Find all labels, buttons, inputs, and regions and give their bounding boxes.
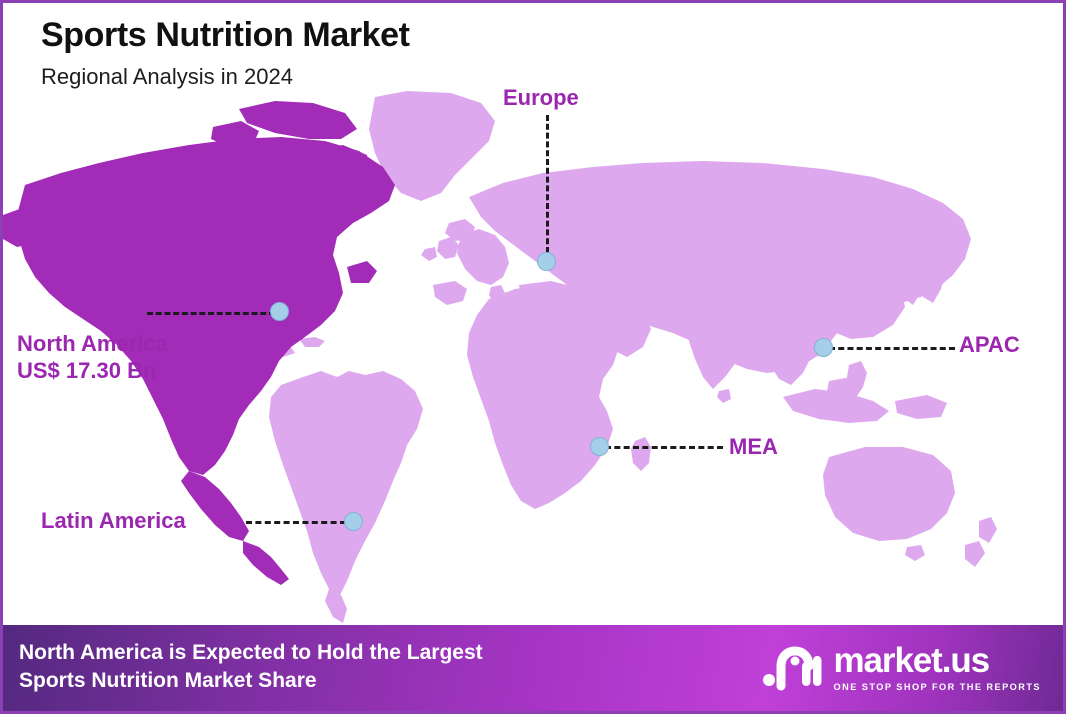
iberia-shape [433, 281, 467, 305]
tasmania-shape [905, 545, 925, 561]
newfoundland-shape [347, 261, 377, 283]
new-zealand-shape [979, 517, 997, 543]
connector-europe [546, 115, 549, 253]
region-label-apac-text: APAC [959, 332, 1020, 357]
madagascar-shape [631, 437, 651, 471]
marker-dot-mea[interactable] [590, 437, 609, 456]
region-label-mea: MEA [729, 434, 778, 461]
footer-headline-line2: Sports Nutrition Market Share [19, 667, 483, 695]
marker-dot-apac[interactable] [814, 338, 833, 357]
market-us-logo-icon [761, 642, 823, 692]
world-map-area: Europe North America US$ 17.30 Bn APAC M… [3, 3, 1063, 633]
connector-mea [605, 446, 723, 449]
new-zealand-south-shape [965, 541, 985, 567]
connector-apac [829, 347, 955, 350]
brand-name: market.us [834, 643, 1041, 678]
region-label-apac: APAC [959, 332, 1020, 359]
marker-dot-europe[interactable] [537, 252, 556, 271]
south-america-tail [325, 589, 347, 623]
region-label-mea-text: MEA [729, 434, 778, 459]
region-label-latin-america-text: Latin America [41, 508, 186, 533]
region-label-europe: Europe [503, 85, 579, 112]
africa-shape [467, 285, 623, 509]
indochina-shape [763, 333, 811, 385]
footer-banner: North America is Expected to Hold the La… [3, 625, 1063, 711]
infographic-root: Sports Nutrition Market Regional Analysi… [0, 0, 1066, 714]
marker-dot-latin-america[interactable] [344, 512, 363, 531]
india-shape [689, 319, 743, 389]
footer-headline-line1: North America is Expected to Hold the La… [19, 639, 483, 667]
region-label-latin-america: Latin America [41, 508, 186, 535]
connector-north-america [147, 312, 275, 315]
australia-shape [823, 447, 955, 541]
connector-latin-america [246, 521, 346, 524]
brand-logo[interactable]: market.us ONE STOP SHOP FOR THE REPORTS [761, 642, 1041, 692]
sri-lanka-shape [717, 389, 731, 403]
header: Sports Nutrition Market Regional Analysi… [41, 17, 410, 90]
brand-tagline: ONE STOP SHOP FOR THE REPORTS [834, 682, 1041, 692]
mexico-shape [181, 471, 249, 541]
region-label-north-america: North America US$ 17.30 Bn [17, 331, 168, 385]
footer-headline: North America is Expected to Hold the La… [19, 639, 483, 695]
central-america-shape [243, 541, 289, 585]
ireland-shape [421, 247, 437, 261]
page-title: Sports Nutrition Market [41, 17, 410, 54]
marker-dot-north-america[interactable] [270, 302, 289, 321]
brand-wordmark: market.us ONE STOP SHOP FOR THE REPORTS [834, 643, 1041, 692]
south-america-shape [269, 371, 423, 597]
region-value-north-america: US$ 17.30 Bn [17, 358, 168, 385]
page-subtitle: Regional Analysis in 2024 [41, 64, 410, 90]
region-label-north-america-text: North America [17, 331, 168, 356]
new-guinea-shape [895, 395, 947, 419]
region-label-europe-text: Europe [503, 85, 579, 110]
western-europe-shape [457, 229, 509, 285]
